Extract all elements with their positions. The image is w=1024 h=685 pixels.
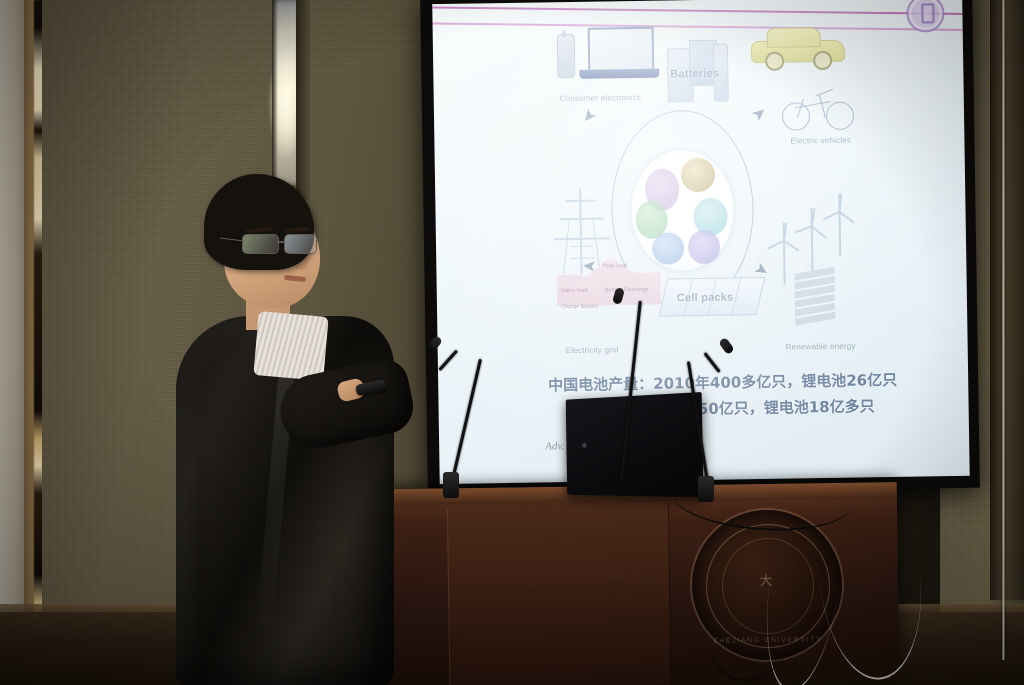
slide-divider-line-secondary — [432, 22, 969, 31]
bicycle-icon — [782, 86, 857, 131]
mobile-phone-icon — [557, 34, 576, 78]
left-pale-wall — [0, 0, 26, 685]
vertical-white-cable — [1002, 0, 1005, 660]
car-icon — [751, 26, 844, 71]
diagram-center-label: Batteries — [670, 68, 719, 81]
cell-packs-label: Cell packs — [677, 291, 734, 304]
node-label-renewable: Renewable energy — [786, 342, 856, 352]
load-label-discharge: Battery Discharge — [605, 287, 649, 294]
materials-circle — [631, 149, 735, 271]
arrow-to-ev-icon: ➤ — [748, 102, 770, 124]
hair — [204, 174, 314, 270]
presenter — [176, 168, 406, 685]
node-label-consumer: Consumer electronics — [560, 93, 642, 103]
shirt-collar — [253, 311, 328, 381]
load-label-charge: Charge Battery — [561, 304, 598, 311]
load-label-valley: Valley load — [561, 288, 588, 294]
load-label-peak: Peak load — [602, 263, 627, 269]
right-pillar — [990, 0, 1024, 600]
node-label-ev: Electric vehicles — [790, 136, 851, 146]
podium-front-panel — [447, 505, 671, 685]
laptop-icon-base — [579, 69, 659, 79]
node-label-grid: Electricity grid — [566, 345, 619, 355]
slide-body-line-1: 中国电池产量：2010年400多亿只，锂电池26亿只 — [548, 369, 897, 395]
slide-divider-line — [432, 6, 969, 15]
solar-panel-icon — [795, 267, 836, 326]
arrow-to-consumer-icon: ➤ — [578, 105, 600, 127]
screenshot-root: Consumer electronics Electric vehicles — [0, 0, 1024, 685]
eyeglasses-icon — [242, 234, 328, 254]
transmission-tower-icon — [553, 187, 610, 274]
